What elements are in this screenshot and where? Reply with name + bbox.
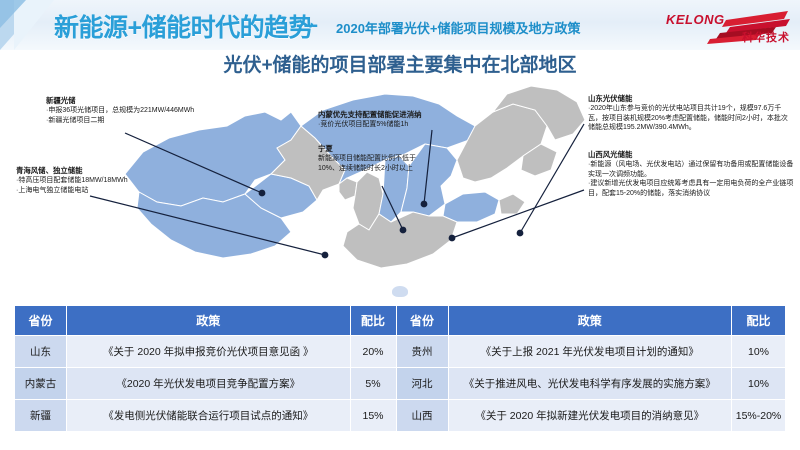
cell-policy-left: 《2020 年光伏发电项目竞争配置方案》 — [67, 368, 351, 400]
logo-chinese-name: 科华技术 — [742, 29, 790, 45]
header-accent-shape-tertiary — [0, 0, 26, 28]
cell-policy-left: 《关于 2020 年拟申报竞价光伏项目意见函 》 — [67, 336, 351, 368]
cell-ratio-left: 15% — [350, 400, 396, 432]
table-row: 内蒙古 《2020 年光伏发电项目竞争配置方案》 5% 河北 《关于推进风电、光… — [15, 368, 786, 400]
cell-policy-left: 《发电侧光伏储能联合运行项目试点的通知》 — [67, 400, 351, 432]
annotation-xinjiang-line-2: ·新疆光储项目二期 — [46, 116, 261, 126]
cell-province-right: 贵州 — [396, 336, 448, 368]
annotation-shandong-title: 山东光伏储能 — [588, 94, 794, 104]
annotation-shanxi: 山西风光储能 ·新能源（风电场、光伏发电站）通过保留有功备用或配置储能设备实现一… — [588, 150, 794, 199]
annotation-xinjiang-line-1: ·申报36项光储项目，总规模为221MW/446MWh — [46, 106, 261, 116]
annotation-qinghai-line-2: ·上海电气独立储能电站 — [16, 186, 216, 196]
col-header-ratio-left: 配比 — [350, 306, 396, 336]
cell-ratio-left: 5% — [350, 368, 396, 400]
cell-policy-right: 《关于上报 2021 年光伏发电项目计划的通知》 — [448, 336, 732, 368]
annotation-xinjiang-title: 新疆光储 — [46, 96, 261, 106]
col-header-ratio-right: 配比 — [732, 306, 786, 336]
annotation-qinghai-line-1: ·特高压项目配套储能18MW/18MWh — [16, 176, 216, 186]
cell-ratio-left: 20% — [350, 336, 396, 368]
kelong-logo: KELONG 科华技术 — [664, 6, 792, 46]
table-header-row: 省份 政策 配比 省份 政策 配比 — [15, 306, 786, 336]
col-header-policy-right: 政策 — [448, 306, 732, 336]
header-title: 新能源+储能时代的趋势 — [54, 8, 313, 44]
annotation-inner-mongolia-title: 内蒙优先支持配置储能促进消纳 — [318, 110, 483, 120]
slide-canvas: 新能源+储能时代的趋势 --- 2020年部署光伏+储能项目规模及地方政策 KE… — [0, 0, 800, 450]
col-header-province-right: 省份 — [396, 306, 448, 336]
table-row: 新疆 《发电侧光伏储能联合运行项目试点的通知》 15% 山西 《关于 2020 … — [15, 400, 786, 432]
annotation-qinghai-title: 青海风储、独立储能 — [16, 166, 216, 176]
header-subtitle: 2020年部署光伏+储能项目规模及地方政策 — [336, 18, 581, 37]
cell-province-right: 河北 — [396, 368, 448, 400]
annotation-shanxi-line-2: ·建议新增光伏发电项目应统筹考虑具有一定用电负荷的全产业链项目，配套15-20%… — [588, 179, 794, 198]
cell-policy-right: 《关于 2020 年拟新建光伏发电项目的消纳意见》 — [448, 400, 732, 432]
annotation-inner-mongolia: 内蒙优先支持配置储能促进消纳 ·竞价光伏项目配置5%储能1h — [318, 110, 483, 130]
cell-province-left: 新疆 — [15, 400, 67, 432]
annotation-shandong-line-1: ·2020年山东参与竞价的光伏电站项目共计19个，规模97.6万千瓦，按项目装机… — [588, 104, 794, 133]
page-title: 光伏+储能的项目部署主要集中在北部地区 — [0, 50, 800, 77]
annotation-ningxia-title: 宁夏 — [318, 144, 433, 154]
annotation-ningxia-line-1: 新能源项目储能配置比例不低于10%、连续储能时长2小时以上 — [318, 154, 433, 173]
annotation-shanxi-title: 山西风光储能 — [588, 150, 794, 160]
col-header-policy-left: 政策 — [67, 306, 351, 336]
cell-province-left: 内蒙古 — [15, 368, 67, 400]
logo-wordmark: KELONG — [666, 12, 725, 27]
province-shandong — [443, 192, 499, 222]
annotation-qinghai: 青海风储、独立储能 ·特高压项目配套储能18MW/18MWh ·上海电气独立储能… — [16, 166, 216, 195]
annotation-shandong: 山东光伏储能 ·2020年山东参与竞价的光伏电站项目共计19个，规模97.6万千… — [588, 94, 794, 133]
annotation-ningxia: 宁夏 新能源项目储能配置比例不低于10%、连续储能时长2小时以上 — [318, 144, 433, 173]
decorative-marker-icon — [392, 286, 408, 297]
cell-ratio-right: 15%-20% — [732, 400, 786, 432]
annotation-inner-mongolia-line-1: ·竞价光伏项目配置5%储能1h — [318, 120, 483, 130]
cell-ratio-right: 10% — [732, 368, 786, 400]
table-row: 山东 《关于 2020 年拟申报竞价光伏项目意见函 》 20% 贵州 《关于上报… — [15, 336, 786, 368]
col-header-province-left: 省份 — [15, 306, 67, 336]
cell-province-right: 山西 — [396, 400, 448, 432]
cell-policy-right: 《关于推进风电、光伏发电科学有序发展的实施方案》 — [448, 368, 732, 400]
header-title-dashes: --- — [296, 14, 319, 37]
annotation-xinjiang: 新疆光储 ·申报36项光储项目，总规模为221MW/446MWh ·新疆光储项目… — [46, 96, 261, 125]
policy-table: 省份 政策 配比 省份 政策 配比 山东 《关于 2020 年拟申报竞价光伏项目… — [14, 305, 786, 432]
cell-ratio-right: 10% — [732, 336, 786, 368]
annotation-shanxi-line-1: ·新能源（风电场、光伏发电站）通过保留有功备用或配置储能设备实现一次调频功能。 — [588, 160, 794, 179]
cell-province-left: 山东 — [15, 336, 67, 368]
province-fragment-a — [499, 194, 525, 214]
